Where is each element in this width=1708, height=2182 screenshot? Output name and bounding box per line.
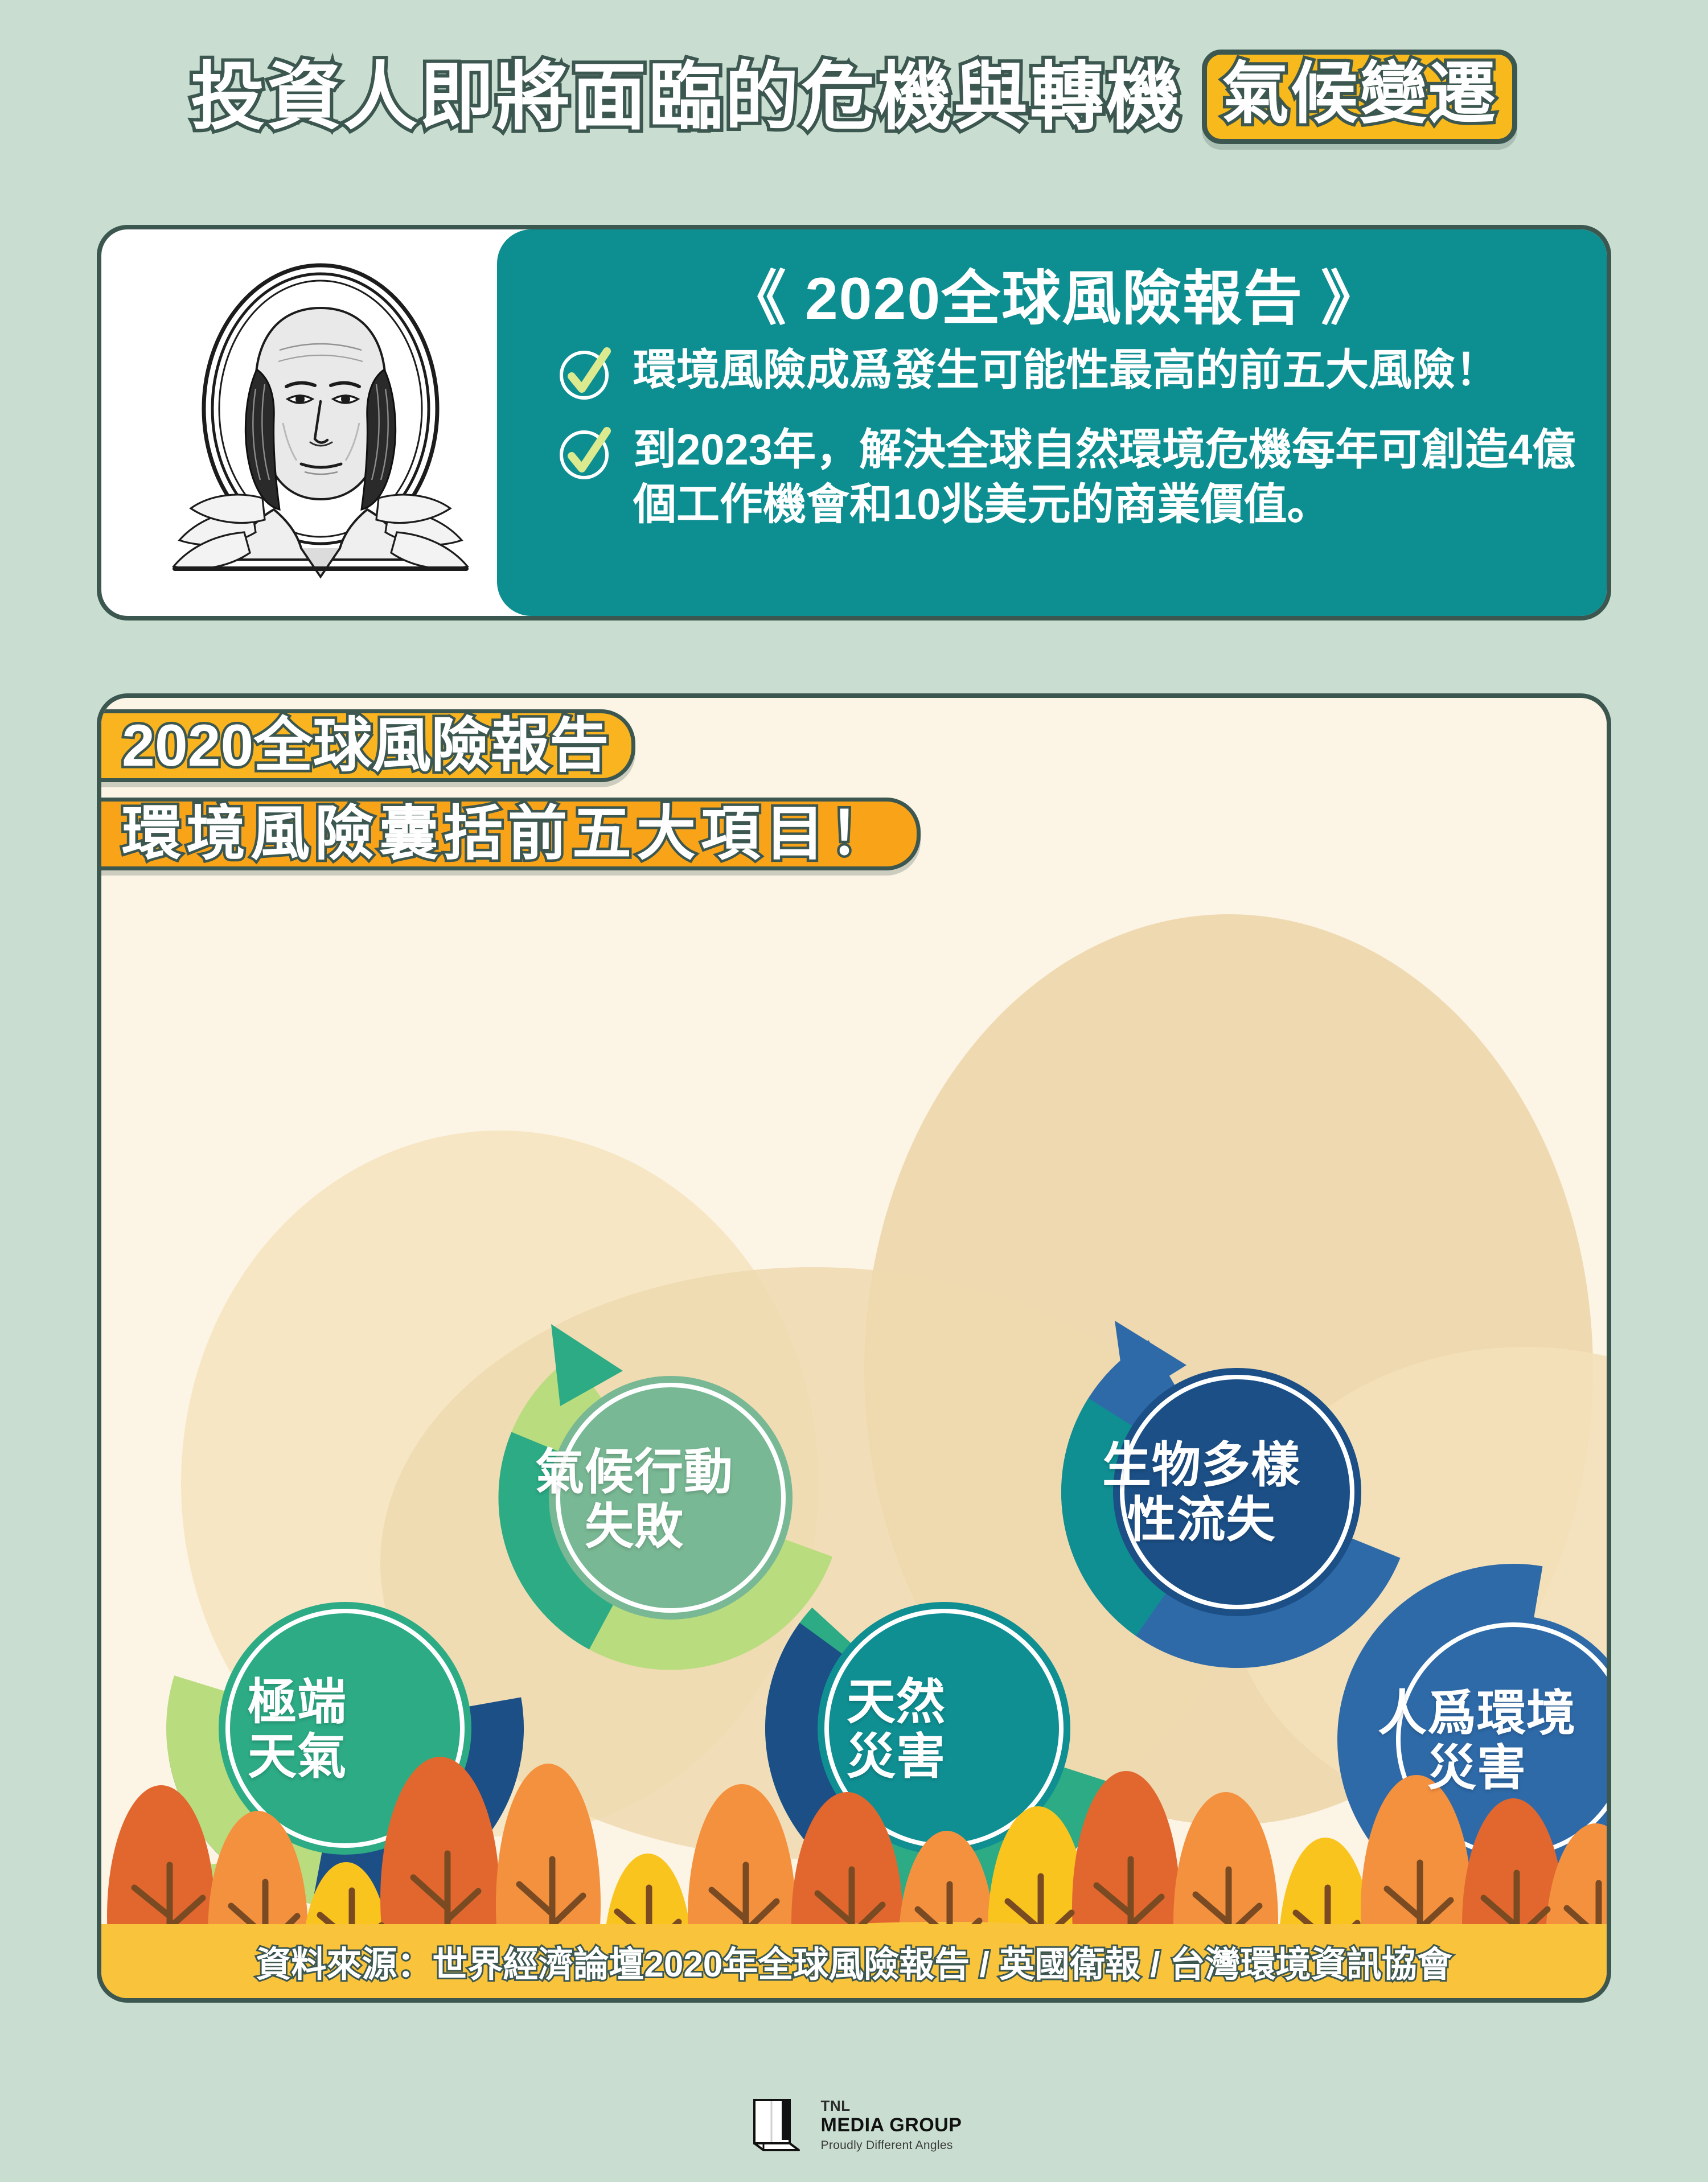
report-panel: 《 2020全球風險報告 》 環境風險成爲發生可能性最高的前五大風險！ 到202… [497, 229, 1611, 616]
brand-line-1: TNL [821, 2098, 962, 2115]
report-bullet-item: 環境風險成爲發生可能性最高的前五大風險！ [557, 343, 1582, 401]
franklin-portrait-wrap [136, 246, 506, 599]
risk-badge-headline: 環境風險囊括前五大項目！ [97, 798, 921, 870]
node-circle-climate-action-failure [549, 1376, 793, 1620]
report-panel-title: 《 2020全球風險報告 》 [497, 250, 1611, 336]
check-circle-icon [557, 424, 614, 481]
risk-card: 極端 天氣 氣候行動 失敗 天然 災害 生物多樣 性流失 人爲環境 災害 202… [97, 693, 1611, 2003]
report-card: 《 2020全球風險報告 》 環境風險成爲發生可能性最高的前五大風險！ 到202… [97, 225, 1611, 621]
page-title: 投資人即將面臨的危機與轉機 [191, 58, 1183, 136]
page-header: 投資人即將面臨的危機與轉機 氣候變遷 [0, 40, 1708, 154]
benjamin-franklin-banknote-engraving-icon [144, 252, 497, 594]
node-circle-biodiversity-loss [1113, 1368, 1361, 1616]
brand-tagline: Proudly Different Angles [821, 2139, 962, 2152]
footer-logo: TNL MEDIA GROUP Proudly Different Angles [0, 2077, 1708, 2173]
source-text: 資料來源：世界經濟論壇2020年全球風險報告 / 英國衛報 / 台灣環境資訊協會 [256, 1936, 1452, 1987]
header-topic-badge-label: 氣候變遷 [1222, 60, 1497, 128]
footer-brand-text: TNL MEDIA GROUP Proudly Different Angles [821, 2098, 962, 2152]
brand-line-2: MEDIA GROUP [821, 2115, 962, 2136]
report-bullet-text: 環境風險成爲發生可能性最高的前五大風險！ [633, 343, 1498, 398]
header-topic-badge: 氣候變遷 [1202, 50, 1517, 144]
risk-scene-illustration [101, 698, 1607, 1998]
open-book-icon [746, 2095, 806, 2155]
report-bullet-item: 到2023年，解決全球自然環境危機每年可創造4億個工作機會和10兆美元的商業價值… [557, 423, 1582, 532]
report-bullet-text: 到2023年，解決全球自然環境危機每年可創造4億個工作機會和10兆美元的商業價值… [633, 423, 1582, 532]
risk-badge-headline-label: 環境風險囊括前五大項目！ [122, 804, 894, 864]
risk-badge-report-year: 2020全球風險報告 [97, 709, 635, 782]
source-bar: 資料來源：世界經濟論壇2020年全球風險報告 / 英國衛報 / 台灣環境資訊協會 [101, 1924, 1607, 1998]
check-circle-icon [557, 344, 614, 401]
risk-badge-report-year-label: 2020全球風險報告 [122, 716, 609, 775]
